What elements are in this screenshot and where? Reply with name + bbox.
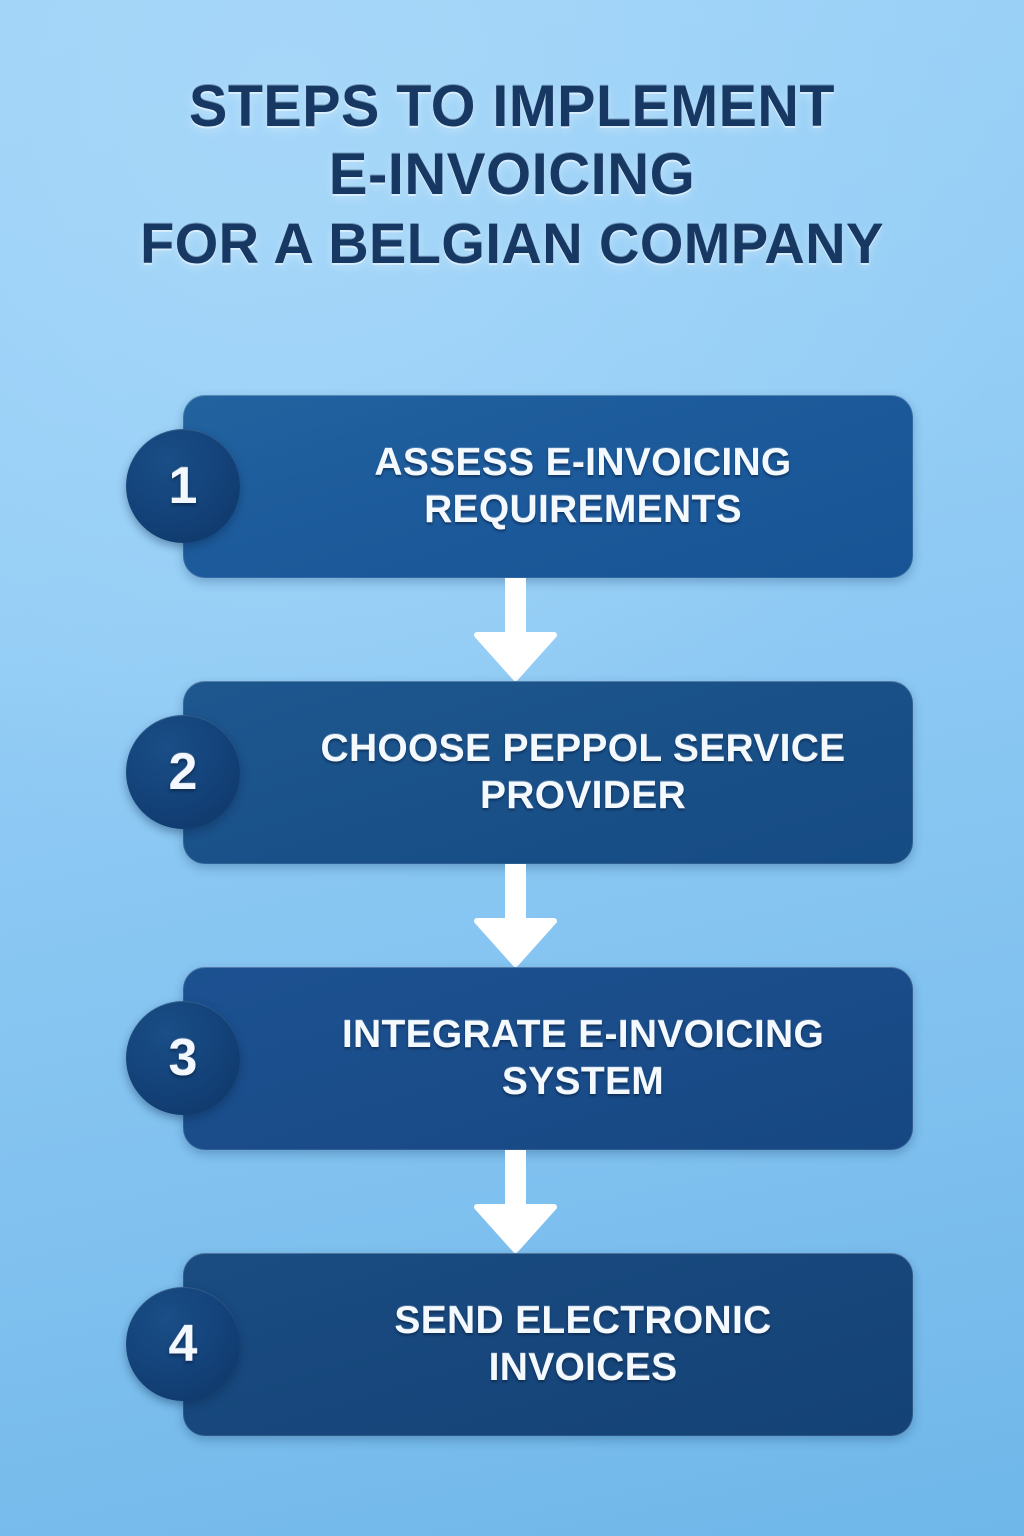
step-badge-1: 1 xyxy=(126,429,240,543)
step-row-1: ASSESS E-INVOICING REQUIREMENTS 1 xyxy=(0,395,1024,578)
infographic-poster: STEPS TO IMPLEMENT E-INVOICING FOR A BEL… xyxy=(0,0,1024,1536)
step-badge-2: 2 xyxy=(126,715,240,829)
step-label-2: CHOOSE PEPPOL SERVICE PROVIDER xyxy=(303,726,863,818)
step-number-3: 3 xyxy=(169,1032,198,1084)
step-label-3: INTEGRATE E-INVOICING SYSTEM xyxy=(303,1012,863,1104)
title-line-3: FOR A BELGIAN COMPANY xyxy=(10,216,1014,273)
steps-flow: ASSESS E-INVOICING REQUIREMENTS 1 CHOOSE… xyxy=(0,395,1024,1436)
step-card-2[interactable]: CHOOSE PEPPOL SERVICE PROVIDER xyxy=(183,681,913,864)
connector-1 xyxy=(0,578,1024,681)
step-badge-3: 3 xyxy=(126,1001,240,1115)
step-row-3: INTEGRATE E-INVOICING SYSTEM 3 xyxy=(0,967,1024,1150)
step-number-4: 4 xyxy=(169,1318,198,1370)
connector-2 xyxy=(0,864,1024,967)
step-label-4: SEND ELECTRONIC INVOICES xyxy=(303,1298,863,1390)
arrow-down-icon xyxy=(0,864,1024,967)
step-label-1: ASSESS E-INVOICING REQUIREMENTS xyxy=(303,440,863,532)
step-number-1: 1 xyxy=(169,460,198,512)
step-badge-4: 4 xyxy=(126,1287,240,1401)
arrow-down-icon xyxy=(0,578,1024,681)
page-title: STEPS TO IMPLEMENT E-INVOICING FOR A BEL… xyxy=(0,78,1024,273)
step-card-1[interactable]: ASSESS E-INVOICING REQUIREMENTS xyxy=(183,395,913,578)
arrow-down-icon xyxy=(0,1150,1024,1253)
step-row-2: CHOOSE PEPPOL SERVICE PROVIDER 2 xyxy=(0,681,1024,864)
step-number-2: 2 xyxy=(169,746,198,798)
connector-3 xyxy=(0,1150,1024,1253)
title-line-1: STEPS TO IMPLEMENT xyxy=(5,78,1019,136)
step-card-3[interactable]: INTEGRATE E-INVOICING SYSTEM xyxy=(183,967,913,1150)
title-line-2: E-INVOICING xyxy=(0,146,1024,204)
step-card-4[interactable]: SEND ELECTRONIC INVOICES xyxy=(183,1253,913,1436)
step-row-4: SEND ELECTRONIC INVOICES 4 xyxy=(0,1253,1024,1436)
